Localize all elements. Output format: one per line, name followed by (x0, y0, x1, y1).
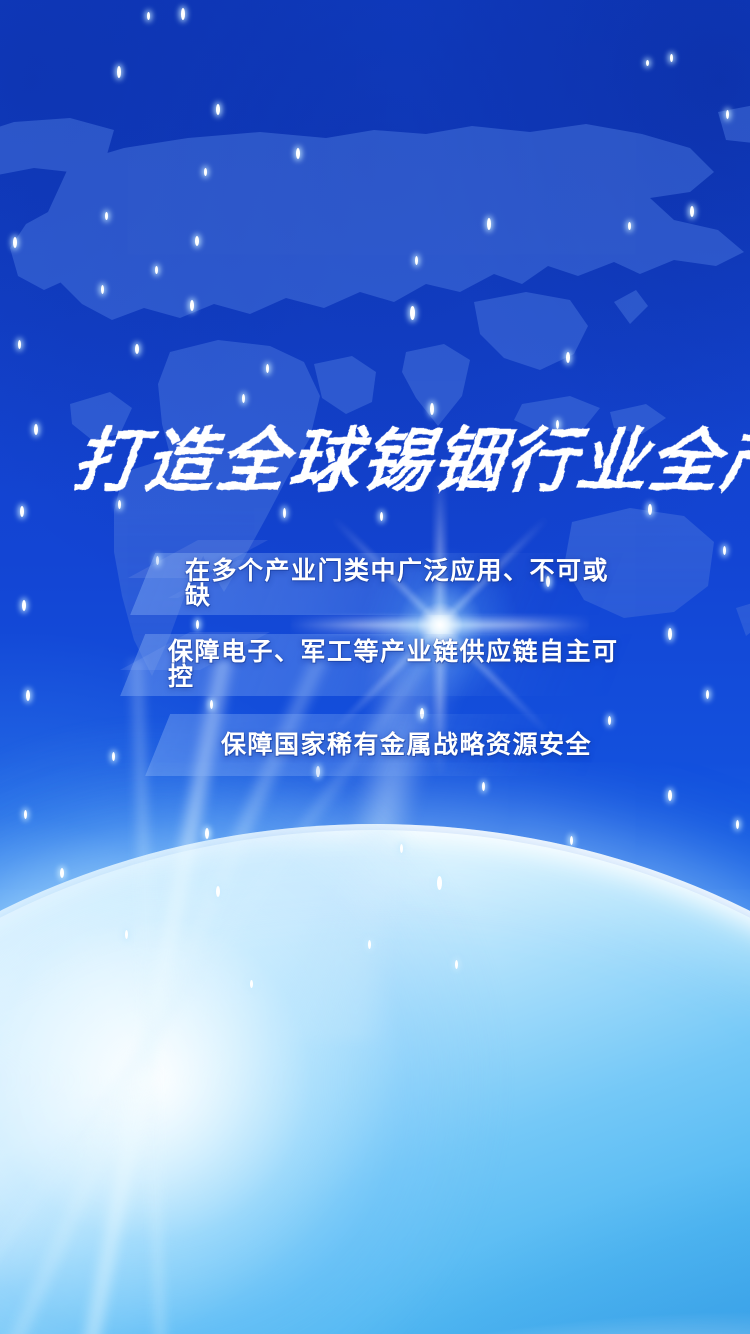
subtitle-text-2: 保障电子、军工等产业链供应链自主可控 (168, 640, 640, 690)
poster-content: 打造全球锡铟行业全产业链链主 在多个产业门类中广泛应用、不可或缺 保障电子、军工… (0, 0, 750, 1334)
subtitle-banner-2: 保障电子、军工等产业链供应链自主可控 (120, 634, 640, 696)
page-title-text: 打造全球锡铟行业全产业链链主 (68, 419, 750, 502)
subtitle-banner-3: 保障国家稀有金属战略资源安全 (145, 714, 615, 776)
page-title: 打造全球锡铟行业全产业链链主 (0, 413, 750, 516)
subtitle-text-3: 保障国家稀有金属战略资源安全 (221, 733, 592, 758)
poster-canvas: 打造全球锡铟行业全产业链链主 在多个产业门类中广泛应用、不可或缺 保障电子、军工… (0, 0, 750, 1334)
subtitle-banner-1: 在多个产业门类中广泛应用、不可或缺 (130, 553, 630, 615)
subtitle-text-1: 在多个产业门类中广泛应用、不可或缺 (185, 559, 630, 609)
